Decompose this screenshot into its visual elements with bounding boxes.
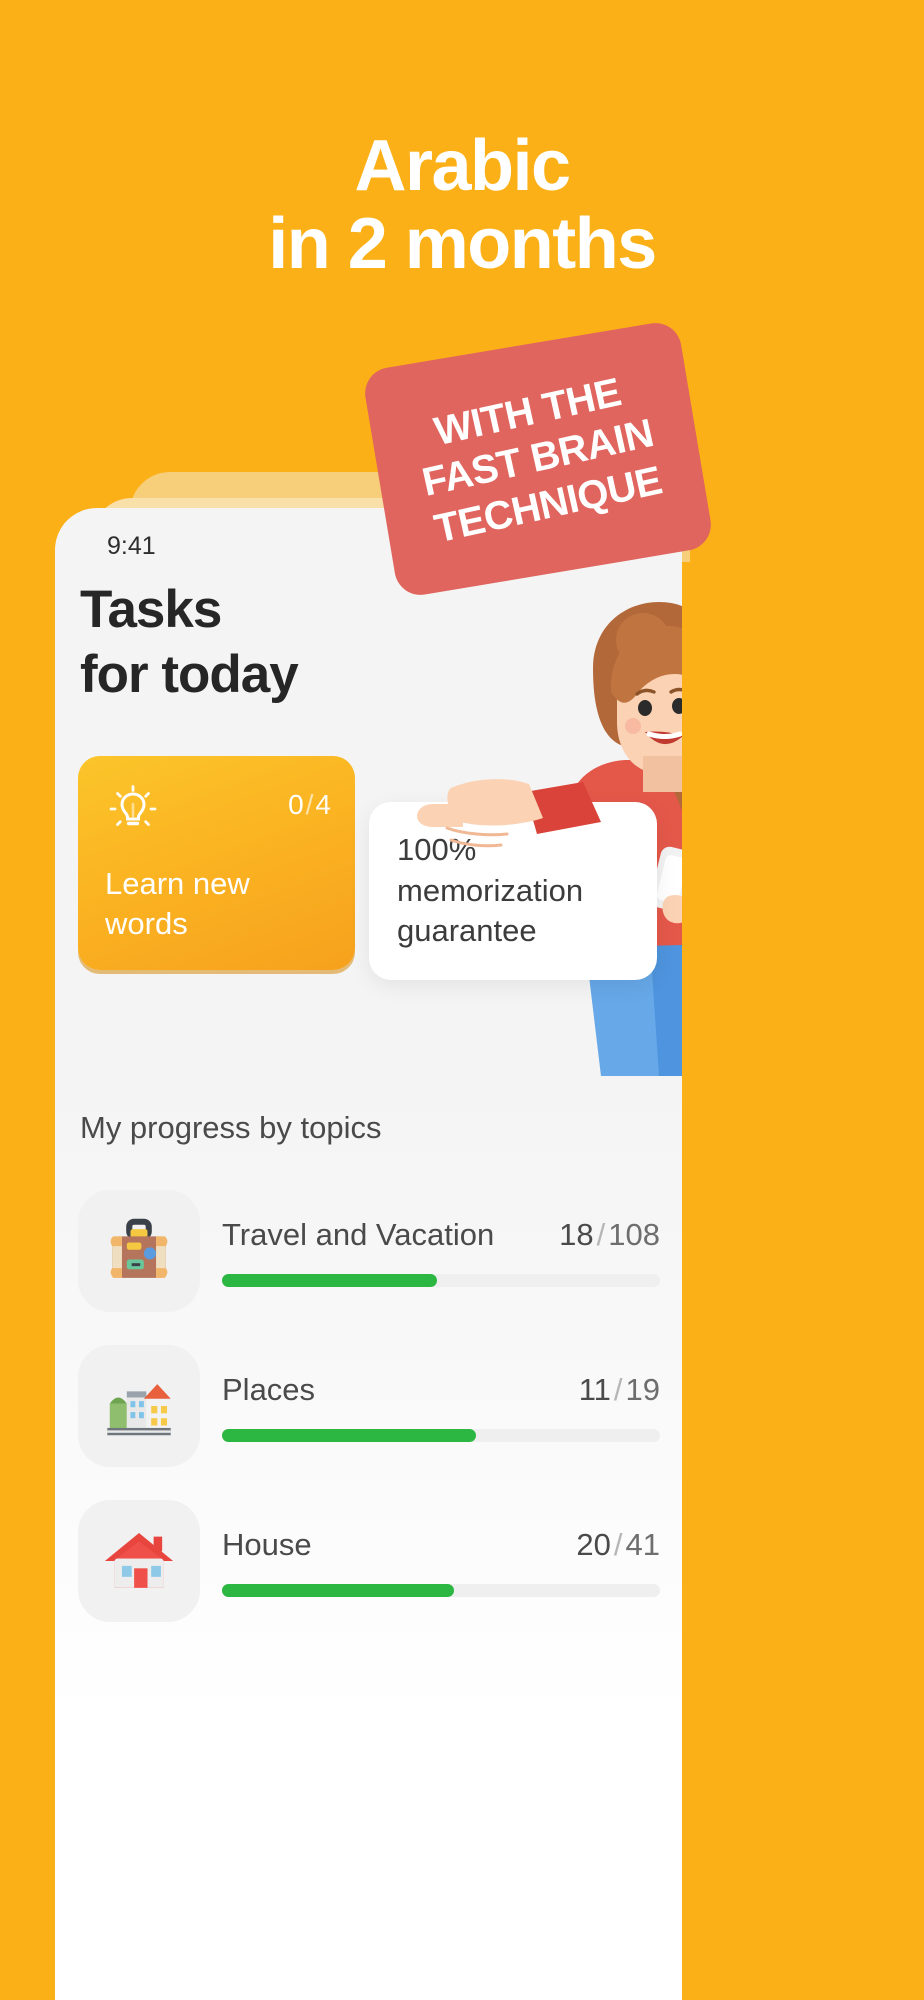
tooltip-text: 100% memorization guarantee — [397, 830, 641, 952]
task-label-line-1: Learn new — [105, 864, 337, 904]
progress-bar-track — [222, 1429, 660, 1442]
progress-section: My progress by topics — [55, 1074, 682, 2000]
house-icon — [78, 1500, 200, 1622]
topic-name: House — [222, 1527, 312, 1563]
progress-bar-fill — [222, 1429, 476, 1442]
task-label-line-2: words — [105, 904, 337, 944]
progress-bar-fill — [222, 1274, 437, 1287]
topic-name: Travel and Vacation — [222, 1217, 494, 1253]
tooltip-line-2: memorization — [397, 871, 641, 912]
topic-count: 11/19 — [579, 1372, 660, 1408]
page-title-line-2: for today — [80, 643, 298, 708]
topic-list: Travel and Vacation 18/108 — [55, 1174, 682, 1639]
tooltip-line-1: 100% — [397, 830, 641, 871]
topic-separator: / — [614, 1372, 623, 1407]
progress-section-title: My progress by topics — [80, 1110, 382, 1146]
task-progress-count: 0/4 — [288, 789, 331, 821]
progress-bar-track — [222, 1274, 660, 1287]
headline-line-1: Arabic — [354, 126, 569, 206]
page-headline: Arabic in 2 months — [0, 128, 924, 284]
phone-mockup: 9:41 Tasks for today 0/4 Learn new words — [55, 508, 682, 2000]
task-card-label: Learn new words — [105, 864, 337, 945]
list-item[interactable]: House 20/41 — [55, 1484, 682, 1639]
page-title: Tasks for today — [80, 578, 298, 707]
topic-count: 20/41 — [576, 1527, 660, 1563]
suitcase-icon — [78, 1190, 200, 1312]
topic-completed: 20 — [576, 1527, 610, 1562]
progress-bar-track — [222, 1584, 660, 1597]
learn-new-words-task-card[interactable]: 0/4 Learn new words — [78, 756, 355, 970]
topic-completed: 18 — [559, 1217, 593, 1252]
topic-total: 41 — [626, 1527, 660, 1562]
headline-line-2: in 2 months — [0, 206, 924, 284]
memorization-guarantee-tooltip: 100% memorization guarantee — [369, 802, 657, 980]
task-count-completed: 0 — [288, 789, 304, 820]
progress-bar-fill — [222, 1584, 454, 1597]
topic-completed: 11 — [579, 1372, 611, 1407]
page-title-line-1: Tasks — [80, 578, 298, 643]
topic-name: Places — [222, 1372, 315, 1408]
list-item[interactable]: Travel and Vacation 18/108 — [55, 1174, 682, 1329]
list-item[interactable]: Places 11/19 — [55, 1329, 682, 1484]
status-bar-time: 9:41 — [107, 532, 156, 561]
topic-total: 19 — [626, 1372, 660, 1407]
task-count-total: 4 — [315, 789, 331, 820]
cityscape-icon — [78, 1345, 200, 1467]
tooltip-line-3: guarantee — [397, 911, 641, 952]
topic-separator: / — [597, 1217, 606, 1252]
topic-total: 108 — [608, 1217, 660, 1252]
topic-separator: / — [614, 1527, 623, 1562]
topic-count: 18/108 — [559, 1217, 660, 1253]
task-count-separator: / — [306, 789, 314, 820]
lightbulb-icon — [105, 780, 161, 836]
